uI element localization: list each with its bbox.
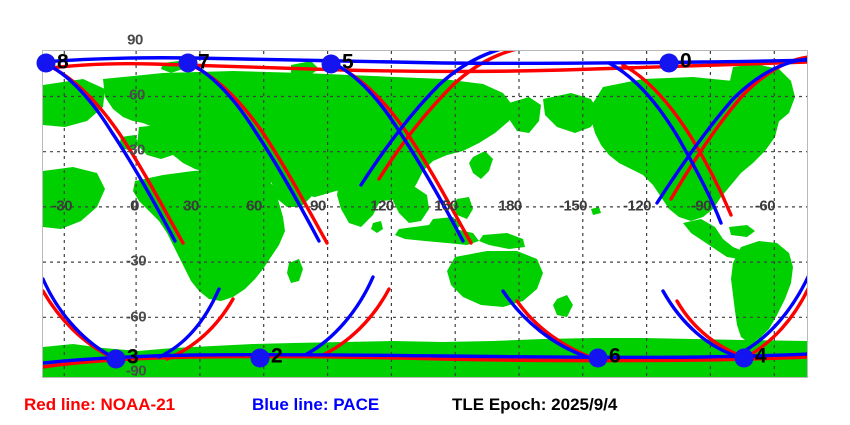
satellite-marker-label: 7 [198, 52, 210, 73]
lon-tick-label: 60 [246, 198, 262, 215]
lon-tick-label: 90 [310, 198, 326, 215]
lon-tick-label: 30 [183, 198, 199, 215]
legend-blue-line: Blue line: PACE [252, 392, 379, 418]
satellite-marker-label: 5 [342, 52, 354, 73]
satellite-marker-label: 6 [609, 346, 621, 367]
lon-tick-label: 120 [370, 198, 394, 215]
satellite-marker-dot[interactable] [322, 55, 341, 74]
legend: Red line: NOAA-21 Blue line: PACE TLE Ep… [0, 392, 850, 418]
land-caribbean [729, 225, 755, 237]
satellite-marker-dot[interactable] [660, 54, 679, 73]
lat-tick-label: -60 [126, 309, 146, 326]
land-japan [469, 151, 493, 179]
satellite-marker-label: 8 [57, 52, 69, 73]
legend-red-line: Red line: NOAA-21 [24, 392, 175, 418]
land-indochina [393, 187, 429, 223]
lon-tick-label: -30 [52, 198, 72, 215]
satellite-marker-dot[interactable] [589, 349, 608, 368]
land-kamchatka [509, 97, 541, 133]
satellite-marker-dot[interactable] [251, 349, 270, 368]
satellite-marker-label: 2 [271, 346, 283, 367]
lon-tick-label: 150 [434, 198, 458, 215]
screenshot-root: 9060300-30-60-90 -300306090120150180-150… [0, 0, 850, 425]
satellite-marker-label: 3 [127, 347, 139, 368]
lon-tick-label: -120 [623, 198, 651, 215]
land-africa [133, 169, 285, 301]
satellite-marker-dot[interactable] [37, 54, 56, 73]
land-australia [447, 251, 543, 307]
lat-tick-label: 60 [129, 87, 145, 104]
satellite-marker-label: 4 [755, 346, 767, 367]
satellite-marker-dot[interactable] [735, 349, 754, 368]
legend-tle-epoch: TLE Epoch: 2025/9/4 [452, 392, 617, 418]
land-new-guinea [479, 233, 525, 249]
land-island-hawaii [591, 207, 601, 215]
land-new-zealand [553, 295, 573, 317]
lon-tick-label: -150 [559, 198, 587, 215]
land-central-america [683, 219, 743, 259]
lat-tick-label: 90 [127, 32, 143, 49]
satellite-marker-label: 0 [680, 51, 692, 72]
satellite-marker-dot[interactable] [179, 54, 198, 73]
satellite-marker-dot[interactable] [107, 350, 126, 369]
land-alaska [543, 93, 599, 133]
lat-tick-label: -30 [126, 253, 146, 270]
lon-tick-label: -90 [691, 198, 711, 215]
map-canvas [43, 51, 808, 378]
lon-tick-label: 180 [498, 198, 522, 215]
lat-tick-label: 30 [129, 142, 145, 159]
lon-tick-label: -60 [755, 198, 775, 215]
lon-tick-label: 0 [130, 198, 138, 215]
land-sri-lanka [371, 221, 383, 233]
